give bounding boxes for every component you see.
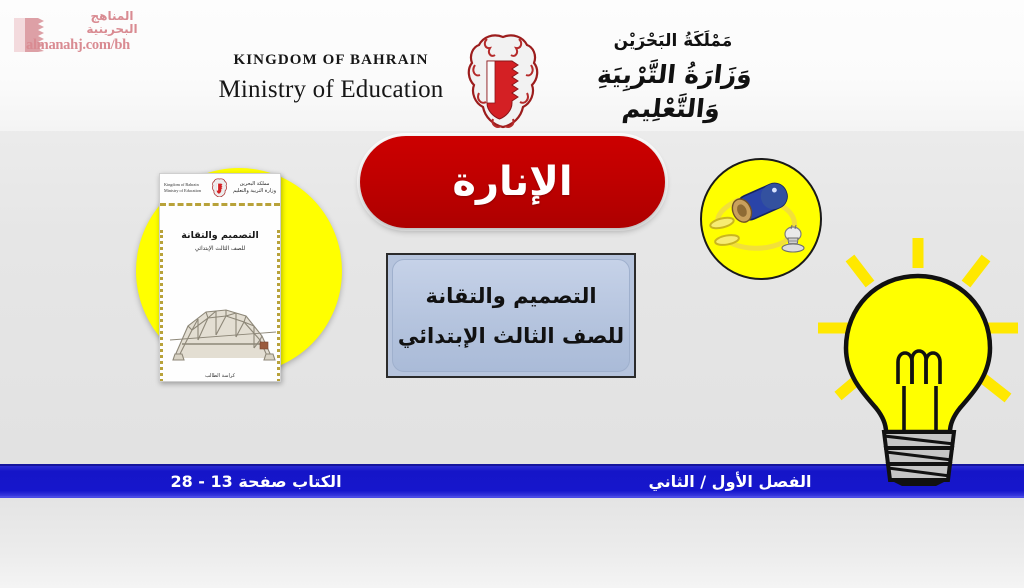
subject-name-label: التصميم والتقانة [425, 284, 596, 308]
wooden-bridge-truss-image [168, 292, 278, 364]
almanahj-watermark: المناهج البحرينية almanahj.com/bh [8, 6, 168, 56]
bahrain-coat-of-arms-icon [463, 31, 543, 133]
battery-circuit-badge [700, 158, 822, 280]
book-cover-header-english: Kingdom of BahrainMinistry of Education [164, 182, 201, 194]
watermark-arabic-line2: البحرينية [56, 23, 168, 36]
light-bulb-base [884, 432, 954, 486]
book-cover-subtitle: للصف الثالث الإبتدائي [163, 246, 277, 252]
light-bulb-icon [812, 236, 1024, 486]
lesson-title-banner: الإنارة [360, 136, 665, 228]
watermark-url: almanahj.com/bh [26, 37, 130, 54]
bottom-background [0, 498, 1024, 588]
watermark-arabic-text: المناهج البحرينية [56, 10, 168, 36]
subject-grade-box: التصميم والتقانة للصف الثالث الإبتدائي [386, 253, 636, 378]
presentation-slide: المناهج البحرينية almanahj.com/bh KINGDO… [0, 0, 1024, 588]
kingdom-of-bahrain-arabic-label: مَمْلَكَةُ البَحْرَيْن [558, 30, 788, 52]
battery-and-lamp-circuit-icon [702, 160, 822, 280]
ministry-arabic-block: مَمْلَكَةُ البَحْرَيْن وَزَارَةُ التَّرْ… [558, 30, 788, 130]
book-cover-footer-label: كراسة الطالب [163, 373, 277, 379]
ministry-of-education-arabic-label: وَزَارَةُ التَّرْبِيَةِ وَالتَّعْلِيم [554, 58, 791, 126]
lesson-title-text: الإنارة [452, 159, 572, 205]
kingdom-of-bahrain-label: KINGDOM OF BAHRAIN [196, 52, 466, 69]
grade-level-label: للصف الثالث الإبتدائي [398, 324, 624, 348]
ministry-english-block: KINGDOM OF BAHRAIN Ministry of Education [196, 52, 466, 104]
book-cover-header-arabic: مملكة البحرين وزارة التربية والتعليم [233, 181, 276, 195]
light-bulb-glass [846, 276, 990, 432]
book-cover-title: التصميم والتقانة [163, 230, 277, 241]
textbook-cover-image: Kingdom of BahrainMinistry of Education … [159, 173, 281, 382]
book-cover-emblem-icon [212, 178, 227, 197]
ministry-of-education-label: Ministry of Education [196, 76, 466, 104]
